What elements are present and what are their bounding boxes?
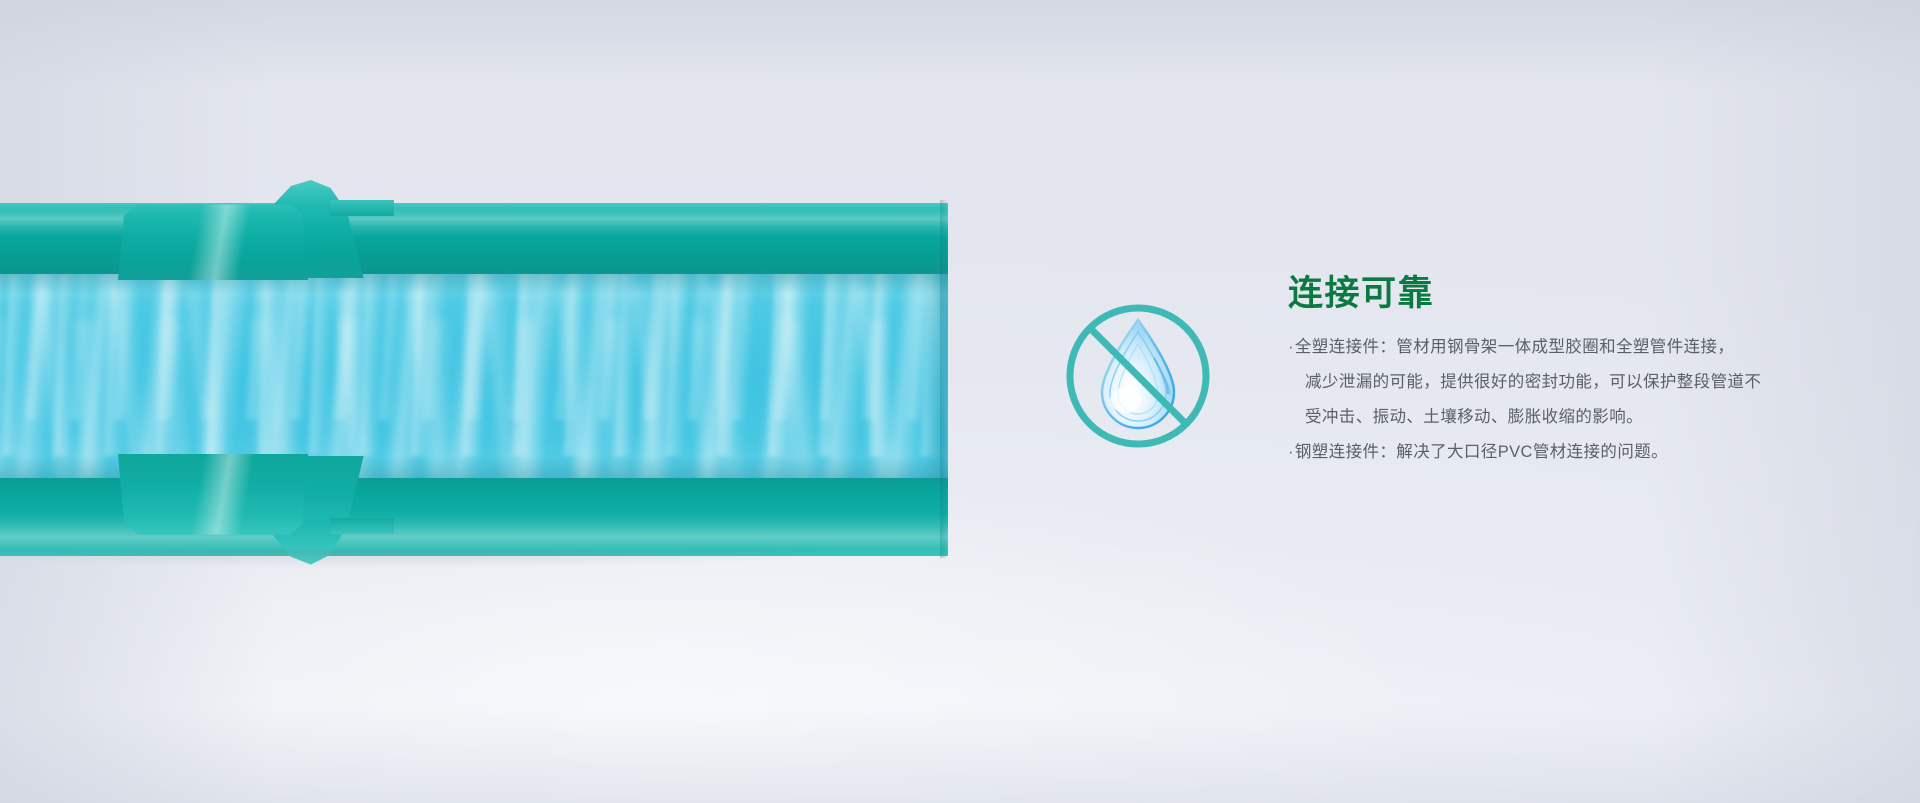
bullet-text: 全塑连接件：管材用钢骨架一体成型胶圈和全塑管件连接，: [1295, 338, 1734, 356]
bullet-line: 受冲击、振动、土壤移动、膨胀收缩的影响。: [1288, 400, 1848, 435]
feature-text-block: 连接可靠 ·全塑连接件：管材用钢骨架一体成型胶圈和全塑管件连接， 减少泄漏的可能…: [1288, 272, 1848, 470]
bullet-marker: ·: [1288, 443, 1294, 461]
pipe-step-bottom: [330, 518, 394, 534]
no-water-leak-icon: [1058, 296, 1218, 456]
page-title: 连接可靠: [1288, 272, 1848, 316]
bullet-item: ·全塑连接件：管材用钢骨架一体成型胶圈和全塑管件连接， 减少泄漏的可能，提供很好…: [1288, 330, 1848, 435]
bullet-marker: ·: [1288, 338, 1294, 356]
bullet-text: 钢塑连接件：解决了大口径PVC管材连接的问题。: [1295, 443, 1668, 461]
bullet-item: ·钢塑连接件：解决了大口径PVC管材连接的问题。: [1288, 435, 1848, 470]
bullet-line: ·钢塑连接件：解决了大口径PVC管材连接的问题。: [1288, 435, 1848, 470]
no-leak-svg: [1058, 296, 1218, 456]
feature-banner: 连接可靠 ·全塑连接件：管材用钢骨架一体成型胶圈和全塑管件连接， 减少泄漏的可能…: [0, 0, 1920, 803]
bullet-line: 减少泄漏的可能，提供很好的密封功能，可以保护整段管道不: [1288, 365, 1848, 400]
water-flow-graphic: [0, 268, 948, 482]
pipe-shadow: [0, 550, 948, 576]
pipe-illustration: [0, 178, 948, 568]
pipe-step-top: [330, 200, 394, 216]
pipe-cut-end: [940, 200, 948, 558]
bullet-line: ·全塑连接件：管材用钢骨架一体成型胶圈和全塑管件连接，: [1288, 330, 1848, 365]
